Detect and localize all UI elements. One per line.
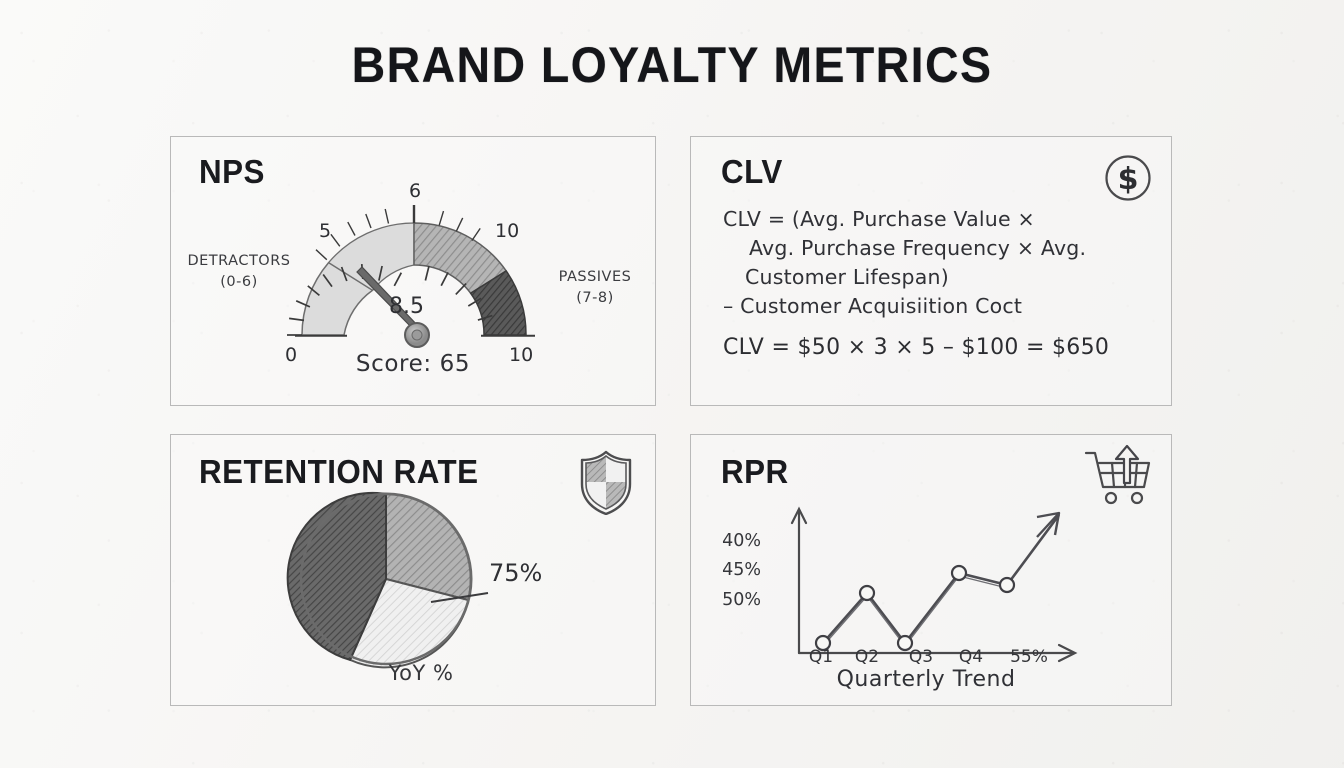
clv-formula: CLV = (Avg. Purchase Value × Avg. Purcha… — [723, 205, 1153, 321]
rpr-caption: Quarterly Trend — [761, 667, 1091, 692]
panel-retention-rate: RETENTION RATE — [170, 434, 656, 706]
shield-icon — [577, 449, 635, 519]
clv-formula-line-2: Avg. Purchase Frequency × Avg. — [723, 234, 1153, 263]
clv-formula-line-1: CLV = (Avg. Purchase Value × — [723, 205, 1153, 234]
panel-title-rpr: RPR — [721, 453, 789, 491]
clv-formula-line-4: – Customer Acquisiition Coct — [723, 292, 1153, 321]
rpr-x-tick-0: Q1 — [799, 647, 843, 667]
rpr-y-tick-2: 50% — [703, 590, 761, 610]
clv-formula-line-3: Customer Lifespan) — [723, 263, 1153, 292]
rpr-x-tick-1: Q2 — [845, 647, 889, 667]
dollar-circle-icon: $ — [1101, 151, 1155, 209]
gauge-value-label: 8.5 — [389, 294, 424, 319]
svg-text:$: $ — [1118, 162, 1139, 197]
panel-title-clv: CLV — [721, 153, 783, 191]
rpr-y-tick-1: 45% — [703, 560, 761, 580]
gauge-tick-10-upper: 10 — [495, 220, 519, 242]
rpr-y-tick-0: 40% — [703, 531, 761, 551]
rpr-x-tick-3: Q4 — [949, 647, 993, 667]
nps-score-caption: Score: 65 — [171, 351, 655, 377]
rpr-trend-arrowhead — [1037, 513, 1059, 537]
gauge-tick-5: 5 — [319, 220, 331, 242]
panel-nps: NPS DETRACTORS (0-6) PASSIVES (7-8) — [170, 136, 656, 406]
retention-caption: YoY % — [291, 661, 551, 685]
panel-clv: CLV $ CLV = (Avg. Purchase Value × Avg. … — [690, 136, 1172, 406]
pie-value-label: 75% — [489, 559, 542, 587]
page-title: BRAND LOYALTY METRICS — [47, 36, 1297, 94]
nps-gauge-chart: 6 5 10 0 10 8.5 — [259, 175, 569, 365]
gauge-tick-6: 6 — [409, 180, 421, 202]
panel-rpr: RPR — [690, 434, 1172, 706]
rpr-series-line — [823, 515, 1059, 643]
rpr-x-tick-4: 55% — [999, 647, 1059, 667]
clv-result: CLV = $50 × 3 × 5 – $100 = $650 — [723, 335, 1109, 360]
rpr-x-tick-2: Q3 — [899, 647, 943, 667]
panel-title-nps: NPS — [199, 153, 265, 191]
